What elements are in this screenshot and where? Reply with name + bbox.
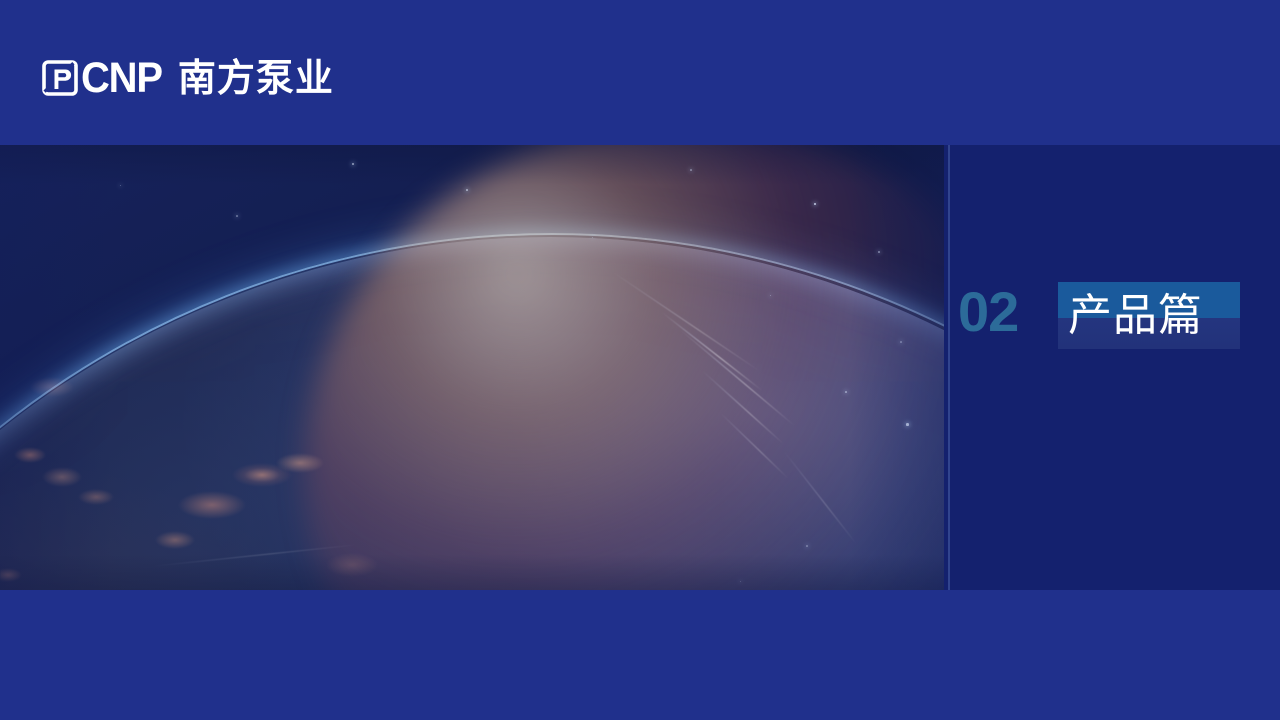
- panel-divider: [948, 145, 950, 590]
- header-band: CNP 南方泵业: [0, 0, 1280, 145]
- brand-chinese-text: 南方泵业: [178, 59, 334, 97]
- footer-band: 节能泵王绿色中国: [0, 590, 1280, 720]
- earth-image-panel: [0, 145, 944, 590]
- starfield: [0, 145, 944, 590]
- brand-latin-text: CNP: [81, 57, 162, 99]
- section-title: 产品篇: [1068, 283, 1248, 349]
- brand-logo[interactable]: CNP 南方泵业: [42, 52, 334, 104]
- presentation-slide: CNP 南方泵业: [0, 0, 1280, 720]
- cnp-monogram-icon: [42, 60, 78, 96]
- section-number: 02: [958, 284, 1018, 340]
- section-side-panel: [944, 145, 1280, 590]
